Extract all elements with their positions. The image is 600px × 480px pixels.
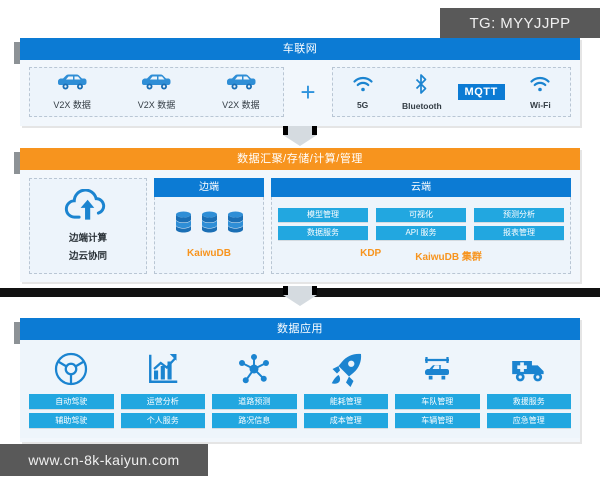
- cloud-capability-grid: 模型管理 可视化 预测分析 数据服务 API 服务 报表管理: [278, 208, 564, 240]
- app-column-operations-analytics: 运营分析 个人服务: [121, 348, 206, 428]
- vehicle-item: V2X 数据: [30, 68, 114, 116]
- app-button[interactable]: 能耗管理: [304, 394, 389, 409]
- app-button[interactable]: 救援服务: [487, 394, 572, 409]
- cloud-chip[interactable]: API 服务: [376, 226, 466, 240]
- steering-wheel-icon: [53, 348, 89, 390]
- app-button[interactable]: 个人服务: [121, 413, 206, 428]
- ambulance-icon: [510, 348, 548, 390]
- vehicle-label: V2X 数据: [138, 98, 176, 111]
- protocol-label: 5G: [357, 100, 368, 110]
- app-button[interactable]: 辅助驾驶: [29, 413, 114, 428]
- protocol-item-wifi: Wi-Fi: [511, 68, 570, 116]
- database-icon: [201, 211, 218, 238]
- app-column-autonomous-driving: 自动驾驶 辅助驾驶: [29, 348, 114, 428]
- vehicle-item: V2X 数据: [199, 68, 283, 116]
- bluetooth-icon: [414, 74, 429, 99]
- app-column-fleet-management: 车队管理 车辆管理: [395, 348, 480, 428]
- network-nodes-icon: [236, 348, 272, 390]
- vehicle-label: V2X 数据: [53, 98, 91, 111]
- cloud-chip[interactable]: 数据服务: [278, 226, 368, 240]
- database-row: [175, 211, 244, 238]
- section-applications: 数据应用 自动驾驶 辅助驾驶 运营分析 个人服务: [20, 318, 580, 442]
- database-icon: [175, 211, 192, 238]
- cloud-column: 云端 模型管理 可视化 预测分析 数据服务 API 服务 报表管理 KDP Ka…: [271, 178, 571, 274]
- section-data-platform: 数据汇聚/存储/计算/管理 边端计算 边云协同 边端: [20, 148, 580, 282]
- section-iov-body: V2X 数据 V2X 数据 V2X 数据 +: [20, 60, 580, 124]
- car-icon: [57, 74, 87, 96]
- car-icon: [141, 74, 171, 96]
- protocol-item-5g: 5G: [333, 68, 392, 116]
- protocol-item-mqtt: MQTT: [452, 68, 511, 116]
- plus-connector: +: [284, 67, 332, 117]
- protocol-label: Wi-Fi: [530, 100, 551, 110]
- cloud-brand-label: KaiwuDB 集群: [415, 248, 482, 263]
- section-app-title: 数据应用: [20, 318, 580, 340]
- section-data-title: 数据汇聚/存储/计算/管理: [20, 148, 580, 170]
- watermark-telegram: TG: MYYJJPP: [440, 8, 600, 38]
- architecture-diagram: 车联网 V2X 数据 V2X 数据: [0, 0, 600, 480]
- app-button[interactable]: 道路预测: [212, 394, 297, 409]
- edge-compute-line1: 边端计算: [69, 233, 107, 246]
- protocol-group: 5G Bluetooth MQTT Wi-Fi: [332, 67, 571, 117]
- bar-chart-icon: [145, 348, 181, 390]
- connector-arrow-data-to-app: [283, 286, 317, 306]
- app-button[interactable]: 车队管理: [395, 394, 480, 409]
- section-iov: 车联网 V2X 数据 V2X 数据: [20, 38, 580, 126]
- database-icon: [227, 211, 244, 238]
- cloud-brand-label: KDP: [360, 248, 381, 263]
- connector-arrow-iov-to-data: [283, 126, 317, 146]
- edge-column-title: 边端: [154, 178, 264, 197]
- mqtt-badge: MQTT: [458, 84, 505, 100]
- section-app-body: 自动驾驶 辅助驾驶 运营分析 个人服务 道路预测 路况信息: [20, 340, 580, 438]
- section-iov-title: 车联网: [20, 38, 580, 60]
- app-button[interactable]: 应急管理: [487, 413, 572, 428]
- wifi-signal-icon: [529, 75, 551, 98]
- vehicle-label: V2X 数据: [222, 98, 260, 111]
- edge-brand-label: KaiwuDB: [187, 248, 231, 259]
- edge-compute-line2: 边云协同: [69, 251, 107, 264]
- cloud-column-body: 模型管理 可视化 预测分析 数据服务 API 服务 报表管理 KDP Kaiwu…: [271, 197, 571, 274]
- section-data-body: 边端计算 边云协同 边端: [20, 170, 580, 282]
- protocol-item-bluetooth: Bluetooth: [392, 68, 451, 116]
- cloud-chip[interactable]: 可视化: [376, 208, 466, 222]
- car-wrench-icon: [419, 348, 455, 390]
- watermark-url: www.cn-8k-kaiyun.com: [0, 444, 208, 476]
- cloud-chip[interactable]: 预测分析: [474, 208, 564, 222]
- wifi-signal-icon: [352, 75, 374, 98]
- protocol-label: Bluetooth: [402, 101, 442, 111]
- cloud-brand-row: KDP KaiwuDB 集群: [360, 248, 482, 263]
- app-button[interactable]: 自动驾驶: [29, 394, 114, 409]
- rocket-icon: [328, 348, 364, 390]
- app-column-energy-management: 能耗管理 成本管理: [304, 348, 389, 428]
- app-column-rescue-service: 救援服务 应急管理: [487, 348, 572, 428]
- app-button[interactable]: 成本管理: [304, 413, 389, 428]
- cloud-chip[interactable]: 报表管理: [474, 226, 564, 240]
- vehicle-item: V2X 数据: [114, 68, 198, 116]
- vehicle-group: V2X 数据 V2X 数据 V2X 数据: [29, 67, 284, 117]
- cloud-chip[interactable]: 模型管理: [278, 208, 368, 222]
- app-column-road-prediction: 道路预测 路况信息: [212, 348, 297, 428]
- app-button[interactable]: 车辆管理: [395, 413, 480, 428]
- car-icon: [226, 74, 256, 96]
- cloud-upload-icon: [64, 189, 112, 228]
- app-button[interactable]: 路况信息: [212, 413, 297, 428]
- edge-compute-block: 边端计算 边云协同: [29, 178, 147, 274]
- cloud-column-title: 云端: [271, 178, 571, 197]
- edge-column-body: KaiwuDB: [154, 197, 264, 274]
- application-grid: 自动驾驶 辅助驾驶 运营分析 个人服务 道路预测 路况信息: [29, 348, 571, 428]
- app-button[interactable]: 运营分析: [121, 394, 206, 409]
- edge-column: 边端 KaiwuDB: [154, 178, 264, 274]
